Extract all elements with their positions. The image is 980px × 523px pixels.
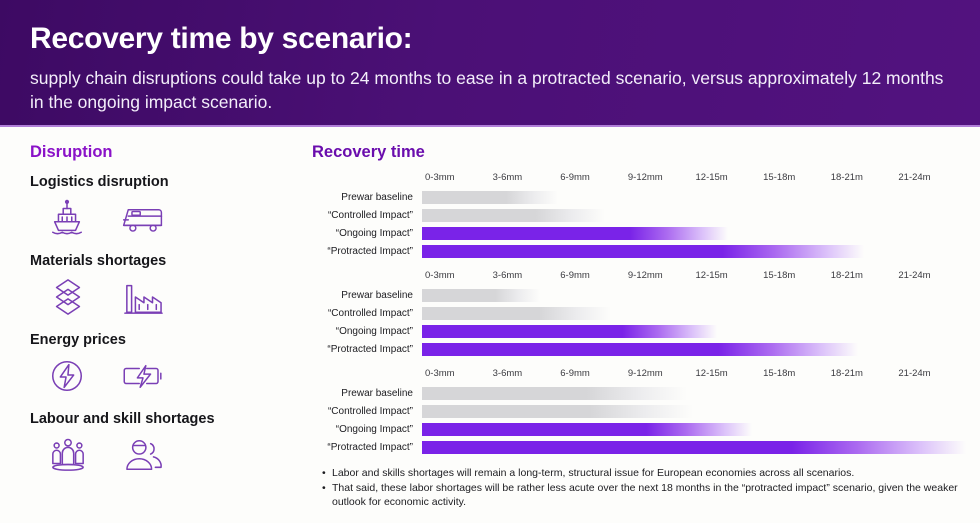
bar (422, 325, 717, 338)
bar (422, 227, 728, 240)
chart-title: Recovery time (312, 143, 966, 162)
axis-tick-label: 6-9mm (560, 172, 590, 183)
disruption-icon-row (30, 192, 300, 244)
axis-tick-label: 6-9mm (560, 270, 590, 281)
chart-bar-row: “Protracted Impact” (312, 243, 966, 259)
disruption-icon-row (30, 271, 300, 323)
chart-bar-row: Prewar baseline (312, 189, 966, 205)
axis-tick-label: 18-21m (831, 368, 863, 379)
bar-track (422, 343, 966, 356)
chart-bar-row: “Ongoing Impact” (312, 421, 966, 437)
bar (422, 191, 558, 204)
disruption-group-labour: Labour and skill shortages (30, 411, 300, 481)
factory-icon (122, 278, 164, 316)
axis-tick-label: 12-15m (696, 172, 728, 183)
bar-row-label: Prewar baseline (312, 192, 422, 203)
page-subtitle: supply chain disruptions could take up t… (30, 67, 952, 114)
chart-bar-row: “Protracted Impact” (312, 439, 966, 455)
footnote-item: •Labor and skills shortages will remain … (322, 466, 966, 480)
bar-row-label: “Protracted Impact” (312, 246, 422, 257)
disruption-group-label: Materials shortages (30, 253, 300, 269)
chart-bar-row: “Protracted Impact” (312, 341, 966, 357)
axis-tick-label: 0-3mm (425, 172, 455, 183)
chart-bar-row: “Ongoing Impact” (312, 323, 966, 339)
bar (422, 387, 687, 400)
bar-track (422, 441, 966, 454)
lightning-circle-icon (48, 357, 86, 395)
axis-tick-label: 3-6mm (493, 270, 523, 281)
axis-tick-label: 9-12mm (628, 172, 663, 183)
axis-tick-label: 0-3mm (425, 270, 455, 281)
bar-row-label: Prewar baseline (312, 388, 422, 399)
chart-bar-row: “Controlled Impact” (312, 403, 966, 419)
axis-tick-label: 6-9mm (560, 368, 590, 379)
workers-icon (122, 437, 166, 473)
axis-tick-label: 15-18m (763, 172, 795, 183)
ship-icon (48, 199, 86, 237)
bar (422, 307, 611, 320)
footnote-text: That said, these labor shortages will be… (332, 481, 966, 509)
bar-track (422, 325, 966, 338)
bar-row-label: “Protracted Impact” (312, 344, 422, 355)
bar-row-label: “Ongoing Impact” (312, 228, 422, 239)
chart-bar-row: “Controlled Impact” (312, 305, 966, 321)
footnote-text: Labor and skills shortages will remain a… (332, 466, 966, 480)
bar (422, 405, 693, 418)
axis-tick-label: 21-24m (898, 270, 930, 281)
axis-tick-label: 12-15m (696, 270, 728, 281)
bar-track (422, 423, 966, 436)
disruption-group-materials: Materials shortages (30, 253, 300, 323)
bar-row-label: “Ongoing Impact” (312, 326, 422, 337)
bar-row-label: “Ongoing Impact” (312, 424, 422, 435)
axis-tick-label: 9-12mm (628, 368, 663, 379)
axis-tick-label: 12-15m (696, 368, 728, 379)
bar (422, 423, 752, 436)
axis-tick-label: 3-6mm (493, 368, 523, 379)
chart-groups-container: 0-3mm3-6mm6-9mm9-12mm12-15m15-18m18-21m2… (312, 172, 966, 455)
chart-group: 0-3mm3-6mm6-9mm9-12mm12-15m15-18m18-21m2… (312, 368, 966, 455)
axis-tick-label: 9-12mm (628, 270, 663, 281)
bar-row-label: Prewar baseline (312, 290, 422, 301)
disruption-group-energy: Energy prices (30, 332, 300, 402)
footnotes-list: •Labor and skills shortages will remain … (312, 466, 966, 510)
bar (422, 289, 540, 302)
bar (422, 209, 605, 222)
axis-tick-label: 3-6mm (493, 172, 523, 183)
footnote-item: •That said, these labor shortages will b… (322, 481, 966, 509)
disruption-group-logistics: Logistics disruption (30, 174, 300, 244)
chart-axis: 0-3mm3-6mm6-9mm9-12mm12-15m15-18m18-21m2… (425, 172, 966, 187)
battery-charge-icon (120, 361, 166, 391)
bar-track (422, 289, 966, 302)
chart-group: 0-3mm3-6mm6-9mm9-12mm12-15m15-18m18-21m2… (312, 172, 966, 259)
disruption-group-label: Logistics disruption (30, 174, 300, 190)
bar-track (422, 405, 966, 418)
bar-row-label: “Protracted Impact” (312, 442, 422, 453)
axis-tick-label: 15-18m (763, 270, 795, 281)
axis-tick-label: 21-24m (898, 172, 930, 183)
bar-track (422, 227, 966, 240)
bar-row-label: “Controlled Impact” (312, 308, 422, 319)
chart-bar-row: Prewar baseline (312, 385, 966, 401)
bar-track (422, 307, 966, 320)
disruption-heading: Disruption (30, 143, 300, 162)
boxes-icon (48, 277, 88, 317)
chart-group: 0-3mm3-6mm6-9mm9-12mm12-15m15-18m18-21m2… (312, 270, 966, 357)
chart-axis: 0-3mm3-6mm6-9mm9-12mm12-15m15-18m18-21m2… (425, 368, 966, 383)
bar-track (422, 387, 966, 400)
bar-row-label: “Controlled Impact” (312, 210, 422, 221)
header-banner: Recovery time by scenario: supply chain … (0, 0, 980, 127)
axis-tick-label: 18-21m (831, 270, 863, 281)
chart-axis: 0-3mm3-6mm6-9mm9-12mm12-15m15-18m18-21m2… (425, 270, 966, 285)
disruption-icon-row (30, 429, 300, 481)
disruption-group-label: Energy prices (30, 332, 300, 348)
axis-tick-label: 15-18m (763, 368, 795, 379)
disruption-icon-row (30, 350, 300, 402)
people-group-icon (48, 437, 88, 473)
bullet-icon: • (322, 481, 332, 509)
truck-icon (120, 201, 166, 235)
disruption-group-label: Labour and skill shortages (30, 411, 300, 427)
disruption-sidebar: Disruption Logistics disruption (0, 127, 300, 523)
bar-row-label: “Controlled Impact” (312, 406, 422, 417)
bar-track (422, 191, 966, 204)
page-title: Recovery time by scenario: (30, 22, 952, 55)
bar (422, 343, 858, 356)
chart-bar-row: “Ongoing Impact” (312, 225, 966, 241)
chart-bar-row: Prewar baseline (312, 287, 966, 303)
axis-tick-label: 0-3mm (425, 368, 455, 379)
bar-track (422, 245, 966, 258)
bar (422, 441, 966, 454)
chart-bar-row: “Controlled Impact” (312, 207, 966, 223)
recovery-time-chart: Recovery time 0-3mm3-6mm6-9mm9-12mm12-15… (300, 127, 980, 523)
bullet-icon: • (322, 466, 332, 480)
axis-tick-label: 21-24m (898, 368, 930, 379)
bar (422, 245, 864, 258)
axis-tick-label: 18-21m (831, 172, 863, 183)
bar-track (422, 209, 966, 222)
